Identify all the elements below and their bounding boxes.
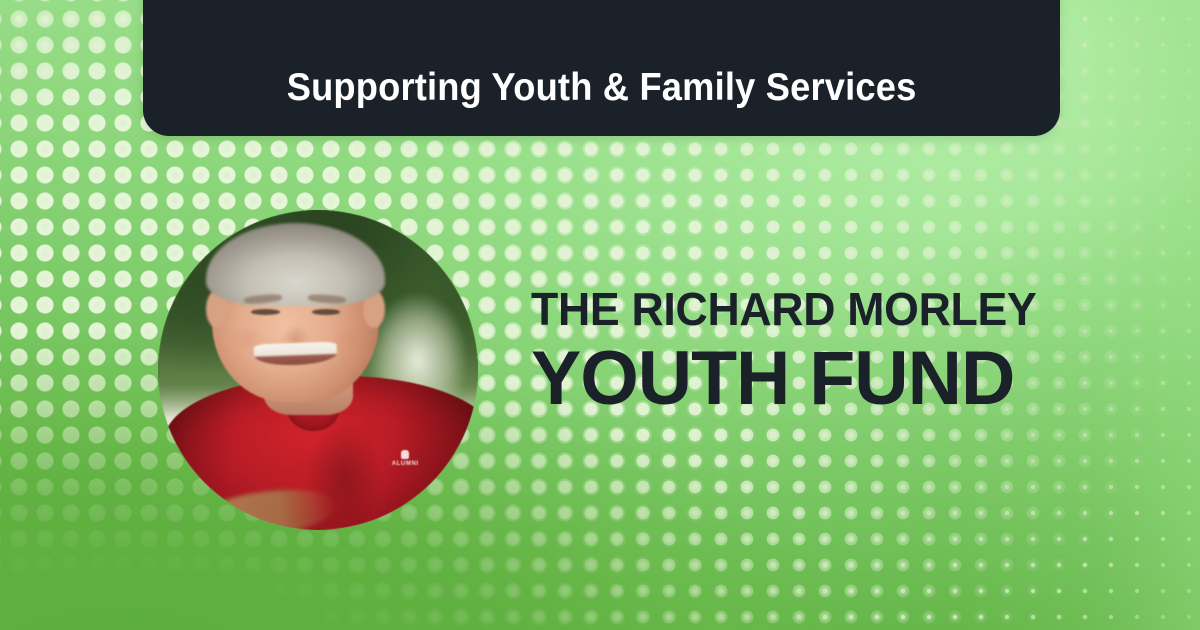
title-block: THE RICHARD MORLEY YOUTH FUND	[531, 286, 1071, 417]
photo-vignette	[158, 210, 478, 530]
header-banner: Supporting Youth & Family Services	[143, 0, 1060, 136]
promo-poster: Supporting Youth & Family Services	[0, 0, 1200, 630]
fund-title-line-1: THE RICHARD MORLEY	[531, 286, 1055, 332]
portrait-scene: ALUMNI	[158, 210, 478, 530]
fund-title-line-2: YOUTH FUND	[531, 341, 1066, 417]
portrait-photo: ALUMNI	[158, 210, 478, 530]
banner-tagline: Supporting Youth & Family Services	[287, 68, 917, 136]
